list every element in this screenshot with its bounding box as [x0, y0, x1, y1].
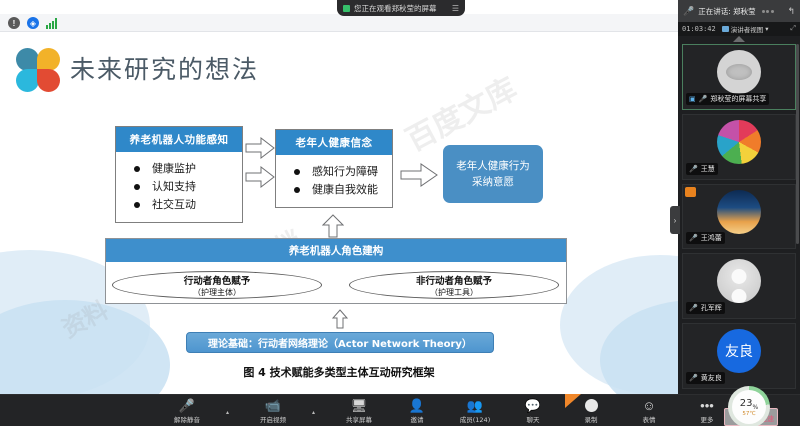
list-item: 认知支持 [130, 178, 236, 196]
toolbar-label: 聊天 [527, 414, 540, 424]
participant-name: 黄友良 [701, 373, 722, 383]
toolbar-button-chat[interactable]: 💬 聊天 [514, 398, 552, 424]
box-header: 老年人健康信念 [276, 130, 392, 155]
video-off-icon: 📹 [265, 398, 281, 413]
avatar [717, 50, 761, 94]
box-body: 感知行为障碍 健康自我效能 [276, 155, 392, 207]
microphone-muted-icon: 🎤 [689, 374, 698, 382]
outcome-line-1: 老年人健康行为 [456, 158, 530, 174]
video-options-chevron-icon[interactable]: ▴ [312, 407, 320, 416]
arrow-up-icon [332, 309, 348, 329]
list-item: 健康监护 [130, 160, 236, 178]
list-item: 感知行为障碍 [290, 163, 386, 181]
toolbar-button-unmute[interactable]: 🎤 解除静音 [168, 398, 206, 424]
participant-nametag: 🎤 王慧 [686, 163, 718, 175]
participant-nametag: 🎤 王鸿蕾 [686, 232, 725, 244]
participant-panel: 🎤 正在讲话: 郑秋莹 ↰ 01:03:42 演讲者视图 ▾ ⤢ ▣ 🎤 郑秋莹… [678, 0, 800, 394]
panel-scrollbar[interactable] [796, 44, 799, 244]
battery-percent: 23% [740, 398, 758, 411]
participant-nametag: 🎤 黄友良 [686, 372, 725, 384]
emoji-smile-icon: ☺ [642, 398, 655, 413]
avatar [717, 259, 761, 303]
box-health-behavior-adoption-intention: 老年人健康行为 采纳意愿 [443, 145, 543, 203]
participant-tile[interactable]: 🎤 孔军辉 [682, 253, 796, 319]
microphone-icon: 🎤 [683, 6, 694, 17]
view-mode-selector[interactable]: 演讲者视图 ▾ [722, 24, 769, 34]
more-options-icon[interactable]: ☰ [452, 4, 459, 13]
arrow-up-icon [322, 214, 344, 238]
toolbar-label: 成员(124) [460, 414, 490, 424]
outcome-line-2: 采纳意愿 [472, 174, 514, 190]
toolbar-button-more[interactable]: ••• 更多 [688, 398, 726, 424]
participant-tiles: ▣ 🎤 郑秋莹的屏幕共享 🎤 王慧 🎤 王鸿蕾 [682, 44, 796, 389]
toolbar-label: 更多 [701, 414, 714, 424]
share-screen-icon: 🖥 [351, 398, 368, 413]
role-construction-band: 养老机器人角色建构 行动者角色赋予 （护理主体） 非行动者角色赋予 （护理工具） [105, 238, 567, 304]
toolbar-label: 录制 [585, 414, 598, 424]
audio-options-chevron-icon[interactable]: ▴ [226, 407, 234, 416]
audio-level-indicator [762, 10, 774, 13]
participant-name: 王鸿蕾 [701, 233, 722, 243]
participant-tile[interactable]: 🎤 王鸿蕾 [682, 184, 796, 250]
toolbar-items: 🎤 解除静音 ▴ 📹 开启视频 ▴ 🖥 共享屏幕 👤 邀请 👥 成员(124) [168, 395, 726, 426]
chevron-down-icon: ▾ [765, 25, 768, 33]
chat-bubble-icon: 💬 [525, 398, 541, 413]
more-dots-icon: ••• [700, 398, 714, 413]
active-speaker-label: 正在讲话: 郑秋莹 [698, 6, 755, 17]
battery-gauge: 23% 57℃ [728, 386, 770, 426]
participant-badge [685, 187, 696, 197]
arrow-right-2-icon [245, 166, 275, 188]
avatar [717, 120, 761, 164]
participant-nametag: 🎤 孔军辉 [686, 302, 725, 314]
microphone-muted-icon: 🎤 [689, 165, 698, 173]
box-body: 健康监护 认知支持 社交互动 [116, 152, 242, 222]
screen-share-indicator-icon [343, 5, 350, 12]
shield-icon: ◈ [27, 17, 39, 29]
avatar-initials: 友良 [725, 341, 753, 361]
participants-icon: 👥 [467, 398, 483, 413]
zoom-meeting-window: ! ◈ 百度文库 文档 资料 未来研究的想法 养老机器人功能感知 健康监护 认知… [0, 0, 800, 426]
participant-tile[interactable]: ▣ 🎤 郑秋莹的屏幕共享 [682, 44, 796, 110]
avatar: 友良 [717, 329, 761, 373]
participant-name: 郑秋莹的屏幕共享 [710, 94, 766, 104]
role-band-header: 养老机器人角色建构 [106, 239, 566, 262]
meeting-timer: 01:03:42 [682, 25, 716, 33]
expand-icon[interactable]: ⤢ [790, 25, 796, 33]
list-item: 社交互动 [130, 196, 236, 214]
temperature-label: 57℃ [742, 411, 755, 417]
four-petal-flower-logo [16, 48, 60, 92]
arrow-right-1-icon [245, 137, 275, 159]
viewing-screen-share-pill[interactable]: 您正在观看郑秋莹的屏幕 ☰ [337, 0, 465, 16]
share-status-text: 您正在观看郑秋莹的屏幕 [354, 3, 437, 14]
collapse-arrow-icon[interactable]: ↰ [787, 6, 795, 17]
record-circle-icon [585, 398, 598, 413]
toolbar-label: 邀请 [411, 414, 424, 424]
desktop-tray-icons: ! ◈ [8, 17, 57, 29]
shared-desktop-taskbar [0, 14, 678, 32]
warning-icon: ! [8, 17, 20, 29]
microphone-icon: 🎤 [699, 95, 708, 103]
participant-name: 孔军辉 [701, 303, 722, 313]
meeting-meta-row: 01:03:42 演讲者视图 ▾ ⤢ [678, 22, 800, 36]
ellipse-title: 非行动者角色赋予 [416, 273, 492, 287]
microphone-muted-icon: 🎤 [689, 234, 698, 242]
speaker-view-icon [722, 26, 729, 32]
ellipse-title: 行动者角色赋予 [184, 273, 251, 287]
box-robot-function-perception: 养老机器人功能感知 健康监护 认知支持 社交互动 [115, 126, 243, 223]
toolbar-label: 解除静音 [174, 414, 200, 424]
toolbar-button-reactions[interactable]: ☺ 表情 [630, 398, 668, 424]
ellipse-non-actor-role: 非行动者角色赋予 （护理工具） [349, 271, 559, 299]
panel-collapse-tab[interactable]: › [670, 206, 680, 234]
participant-tile[interactable]: 友良 🎤 黄友良 [682, 323, 796, 389]
shared-screen-viewport[interactable]: ! ◈ 百度文库 文档 资料 未来研究的想法 养老机器人功能感知 健康监护 认知… [0, 0, 678, 394]
microphone-muted-icon: 🎤 [689, 304, 698, 312]
participant-nametag: ▣ 🎤 郑秋莹的屏幕共享 [686, 93, 769, 105]
slide-title: 未来研究的想法 [70, 50, 259, 86]
box-elderly-health-belief: 老年人健康信念 感知行为障碍 健康自我效能 [275, 129, 393, 208]
toolbar-label: 共享屏幕 [346, 414, 372, 424]
participant-name: 王慧 [701, 164, 715, 174]
figure-caption: 图 4 技术赋能多类型主体互动研究框架 [0, 364, 678, 380]
microphone-muted-icon: 🎤 [179, 398, 195, 413]
ellipse-subtitle: （护理工具） [430, 287, 478, 298]
orange-flag-overlay-icon [565, 394, 581, 408]
caret-up-icon[interactable] [733, 36, 745, 42]
toolbar-label: 表情 [643, 414, 656, 424]
participant-tile[interactable]: 🎤 王慧 [682, 114, 796, 180]
ellipse-subtitle: （护理主体） [193, 287, 241, 298]
meeting-toolbar: 🎤 解除静音 ▴ 📹 开启视频 ▴ 🖥 共享屏幕 👤 邀请 👥 成员(124) [0, 394, 800, 426]
ellipse-actor-role: 行动者角色赋予 （护理主体） [112, 271, 322, 299]
view-mode-label: 演讲者视图 [731, 24, 764, 34]
screen-share-icon: ▣ [689, 95, 696, 103]
toolbar-button-participants[interactable]: 👥 成员(124) [456, 398, 494, 424]
toolbar-button-start-video[interactable]: 📹 开启视频 [254, 398, 292, 424]
arrow-right-3-icon [400, 163, 438, 187]
list-item: 健康自我效能 [290, 181, 386, 199]
toolbar-label: 开启视频 [260, 414, 286, 424]
active-speaker-bar: 🎤 正在讲话: 郑秋莹 ↰ [678, 0, 800, 22]
theory-foundation-bar: 理论基础：行动者网络理论（Actor Network Theory） [186, 332, 494, 353]
signal-bars-icon [46, 18, 57, 29]
box-header: 养老机器人功能感知 [116, 127, 242, 152]
toolbar-button-invite[interactable]: 👤 邀请 [398, 398, 436, 424]
device-status-widget: 加速 23% 57℃ [722, 386, 780, 426]
toolbar-button-share-screen[interactable]: 🖥 共享屏幕 [340, 398, 378, 424]
invite-person-icon: 👤 [409, 398, 425, 413]
avatar [717, 190, 761, 234]
